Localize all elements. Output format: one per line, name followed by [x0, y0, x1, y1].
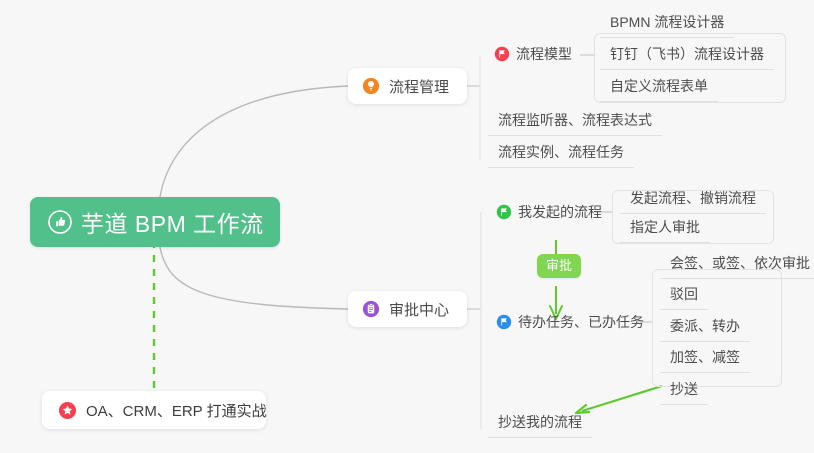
flag-icon-blue [496, 314, 512, 335]
leaf-label: 驳回 [670, 286, 698, 302]
leaf-add-remove-sign[interactable]: 加签、减签 [660, 347, 750, 373]
mindmap-canvas: 芋道 BPM 工作流 流程管理 流程模型 BPMN 流程设计器 钉钉（飞书）流程… [0, 0, 814, 453]
branch-process-management[interactable]: 流程管理 [348, 68, 467, 104]
flag-icon-red [494, 46, 510, 67]
leaf-label: 钉钉（飞书）流程设计器 [610, 46, 764, 62]
leaf-label: BPMN 流程设计器 [610, 14, 724, 30]
leaf-label: 流程模型 [516, 46, 572, 62]
leaf-bpmn-designer[interactable]: BPMN 流程设计器 [600, 12, 734, 38]
leaf-label: 发起流程、撤销流程 [630, 190, 756, 206]
leaf-delegate-transfer[interactable]: 委派、转办 [660, 316, 750, 342]
leaf-label: 指定人审批 [630, 219, 700, 235]
leaf-label: 会签、或签、依次审批 [670, 255, 810, 271]
leaf-instance-task[interactable]: 流程实例、流程任务 [488, 142, 634, 168]
leaf-cc-to-me[interactable]: 抄送我的流程 [488, 412, 592, 438]
leaf-todo-done-tasks[interactable]: 待办任务、已办任务 [492, 312, 654, 337]
leaf-label: 抄送我的流程 [498, 414, 582, 430]
leaf-label: 流程实例、流程任务 [498, 144, 624, 160]
leaf-label: 待办任务、已办任务 [518, 314, 644, 330]
flag-icon-green [496, 204, 512, 225]
leaf-label: 抄送 [670, 381, 698, 397]
leaf-start-cancel-process[interactable]: 发起流程、撤销流程 [620, 188, 766, 214]
leaf-cc[interactable]: 抄送 [660, 379, 708, 405]
branch-label: 审批中心 [389, 299, 449, 320]
leaf-label: 自定义流程表单 [610, 78, 708, 94]
thumbs-up-icon [48, 210, 72, 234]
leaf-label: 加签、减签 [670, 349, 740, 365]
badge-label: 审批 [546, 258, 572, 273]
star-icon [58, 401, 77, 420]
branch-label: 流程管理 [389, 76, 449, 97]
bottom-node-oa-crm-erp[interactable]: OA、CRM、ERP 打通实战 [42, 391, 266, 429]
bottom-node-label: OA、CRM、ERP 打通实战 [86, 400, 267, 421]
clipboard-icon [362, 300, 380, 318]
lightbulb-icon [362, 77, 380, 95]
approval-badge: 审批 [537, 254, 581, 278]
leaf-countersign[interactable]: 会签、或签、依次审批 [660, 253, 814, 279]
leaf-custom-form[interactable]: 自定义流程表单 [600, 76, 718, 102]
leaf-label: 委派、转办 [670, 318, 740, 334]
leaf-listener-expression[interactable]: 流程监听器、流程表达式 [488, 110, 662, 136]
leaf-label: 流程监听器、流程表达式 [498, 112, 652, 128]
leaf-dingtalk-designer[interactable]: 钉钉（飞书）流程设计器 [600, 44, 774, 70]
leaf-label: 我发起的流程 [518, 204, 602, 220]
leaf-assignee-approval[interactable]: 指定人审批 [620, 217, 710, 243]
root-label: 芋道 BPM 工作流 [81, 205, 264, 239]
leaf-reject[interactable]: 驳回 [660, 284, 708, 310]
leaf-process-model[interactable]: 流程模型 [490, 44, 582, 69]
branch-approval-center[interactable]: 审批中心 [348, 291, 467, 327]
leaf-my-started-processes[interactable]: 我发起的流程 [492, 202, 612, 227]
root-node[interactable]: 芋道 BPM 工作流 [30, 197, 280, 247]
